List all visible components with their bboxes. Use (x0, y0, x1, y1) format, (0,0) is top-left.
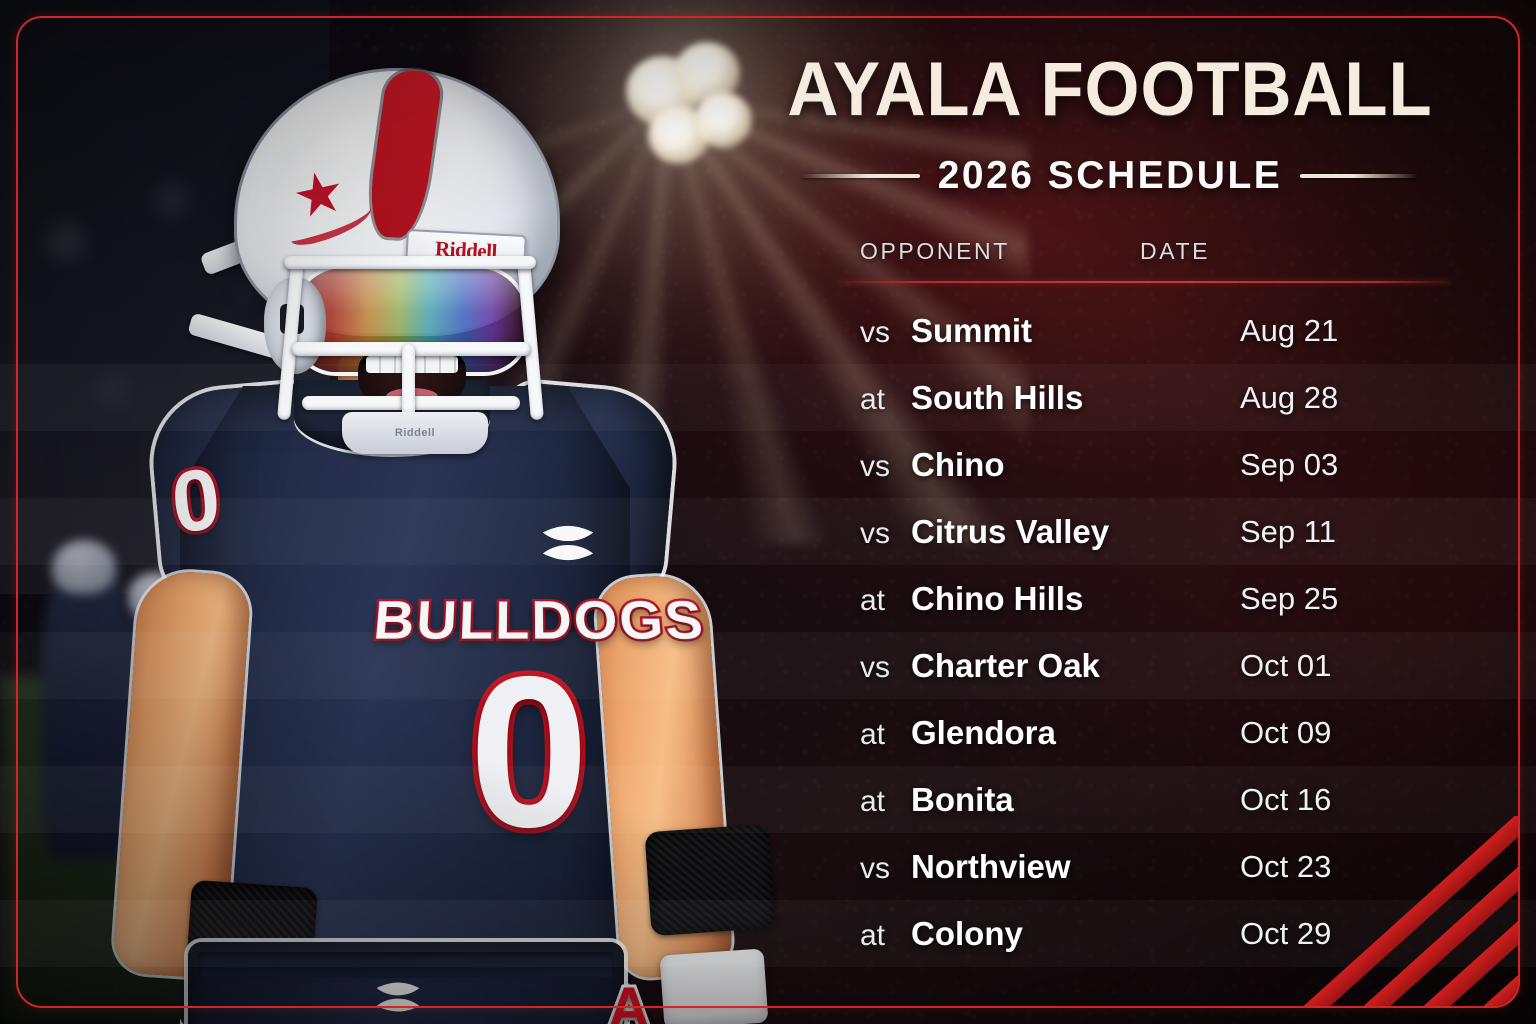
cell-date: Oct 09 (1200, 715, 1500, 751)
cell-opponent: vsNorthview (860, 848, 1200, 886)
column-header-opponent: OPPONENT (760, 238, 1100, 265)
cell-date: Aug 28 (1200, 380, 1500, 416)
column-header-date: DATE (1100, 238, 1436, 265)
opponent-prefix: at (860, 718, 898, 752)
page-title: AYALA FOOTBALL (785, 52, 1436, 128)
table-row: vsCharter OakOct 01 (760, 632, 1536, 699)
table-row: vsSummitAug 21 (760, 297, 1536, 364)
cell-date: Oct 01 (1200, 648, 1500, 684)
cell-opponent: atColony (860, 915, 1200, 953)
cell-opponent: atGlendora (860, 714, 1200, 752)
cell-date: Oct 16 (1200, 782, 1500, 818)
subtitle-dash-right (1300, 174, 1418, 178)
cell-date: Sep 25 (1200, 581, 1500, 617)
schedule-poster: 0 BULLDOGS 0 A Riddell (0, 0, 1536, 1024)
opponent-prefix: at (860, 919, 898, 953)
cell-date: Sep 11 (1200, 514, 1500, 550)
cell-date: Sep 03 (1200, 447, 1500, 483)
opponent-prefix: vs (860, 316, 898, 350)
cell-opponent: vsChino (860, 446, 1200, 484)
opponent-prefix: vs (860, 517, 898, 551)
cell-opponent: atChino Hills (860, 580, 1200, 618)
page-subtitle: 2026 SCHEDULE (938, 154, 1283, 198)
opponent-name: Northview (911, 848, 1071, 886)
table-row: vsChinoSep 03 (760, 431, 1536, 498)
subtitle-row: 2026 SCHEDULE (760, 154, 1460, 198)
table-body: vsSummitAug 21atSouth HillsAug 28vsChino… (760, 297, 1536, 967)
opponent-name: Bonita (911, 781, 1014, 819)
table-row: atBonitaOct 16 (760, 766, 1536, 833)
cell-opponent: vsCitrus Valley (860, 513, 1200, 551)
opponent-name: Chino (911, 446, 1004, 484)
table-row: atGlendoraOct 09 (760, 699, 1536, 766)
opponent-prefix: vs (860, 651, 898, 685)
table-row: vsCitrus ValleySep 11 (760, 498, 1536, 565)
table-row: vsNorthviewOct 23 (760, 833, 1536, 900)
schedule-table: OPPONENT DATE vsSummitAug 21atSouth Hill… (760, 238, 1536, 967)
opponent-prefix: at (860, 383, 898, 417)
cell-opponent: vsCharter Oak (860, 647, 1200, 685)
opponent-name: Colony (911, 915, 1023, 953)
cell-date: Oct 29 (1200, 916, 1500, 952)
opponent-name: Glendora (911, 714, 1056, 752)
cell-date: Oct 23 (1200, 849, 1500, 885)
opponent-name: Summit (911, 312, 1032, 350)
table-row: atSouth HillsAug 28 (760, 364, 1536, 431)
opponent-prefix: vs (860, 450, 898, 484)
title-block: AYALA FOOTBALL 2026 SCHEDULE (760, 52, 1460, 198)
cell-date: Aug 21 (1200, 313, 1500, 349)
subtitle-dash-left (802, 174, 920, 178)
opponent-name: South Hills (911, 379, 1083, 417)
schedule-panel: AYALA FOOTBALL 2026 SCHEDULE OPPONENT DA… (760, 0, 1536, 1024)
table-row: atChino HillsSep 25 (760, 565, 1536, 632)
opponent-prefix: at (860, 584, 898, 618)
opponent-name: Chino Hills (911, 580, 1083, 618)
header-divider-rule (838, 281, 1450, 283)
opponent-prefix: at (860, 785, 898, 819)
cell-opponent: atBonita (860, 781, 1200, 819)
opponent-prefix: vs (860, 852, 898, 886)
table-row: atColonyOct 29 (760, 900, 1536, 967)
table-header-row: OPPONENT DATE (760, 238, 1536, 281)
cell-opponent: atSouth Hills (860, 379, 1200, 417)
opponent-name: Citrus Valley (911, 513, 1109, 551)
opponent-name: Charter Oak (911, 647, 1100, 685)
cell-opponent: vsSummit (860, 312, 1200, 350)
